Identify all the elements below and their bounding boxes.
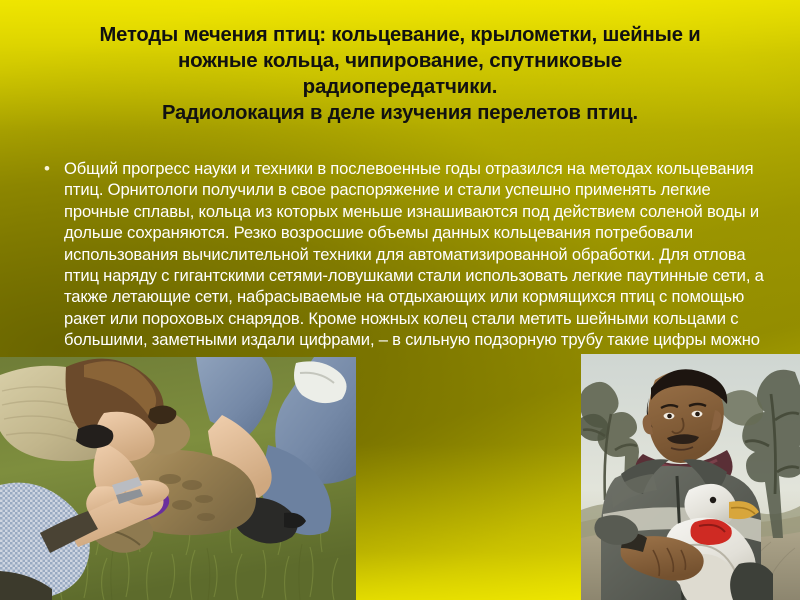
man-holding-bird-photo: [581, 354, 800, 600]
slide-title: Методы мечения птиц: кольцевание, крылом…: [40, 22, 760, 126]
slide-title-line-1: Методы мечения птиц: кольцевание, крылом…: [45, 22, 754, 48]
slide-title-line-4: Радиолокация в деле изучения перелетов п…: [45, 100, 754, 126]
bird-banding-photo: [0, 357, 356, 600]
slide-title-line-2: ножные кольца, чипирование, спутниковые: [40, 48, 760, 74]
body-paragraph: Общий прогресс науки и техники в послево…: [64, 158, 766, 372]
slide-title-line-3: радиопередатчики.: [40, 74, 760, 100]
bullet-marker: •: [38, 158, 64, 179]
presentation-slide: Методы мечения птиц: кольцевание, крылом…: [0, 0, 800, 600]
slide-body: • Общий прогресс науки и техники в после…: [38, 158, 766, 372]
